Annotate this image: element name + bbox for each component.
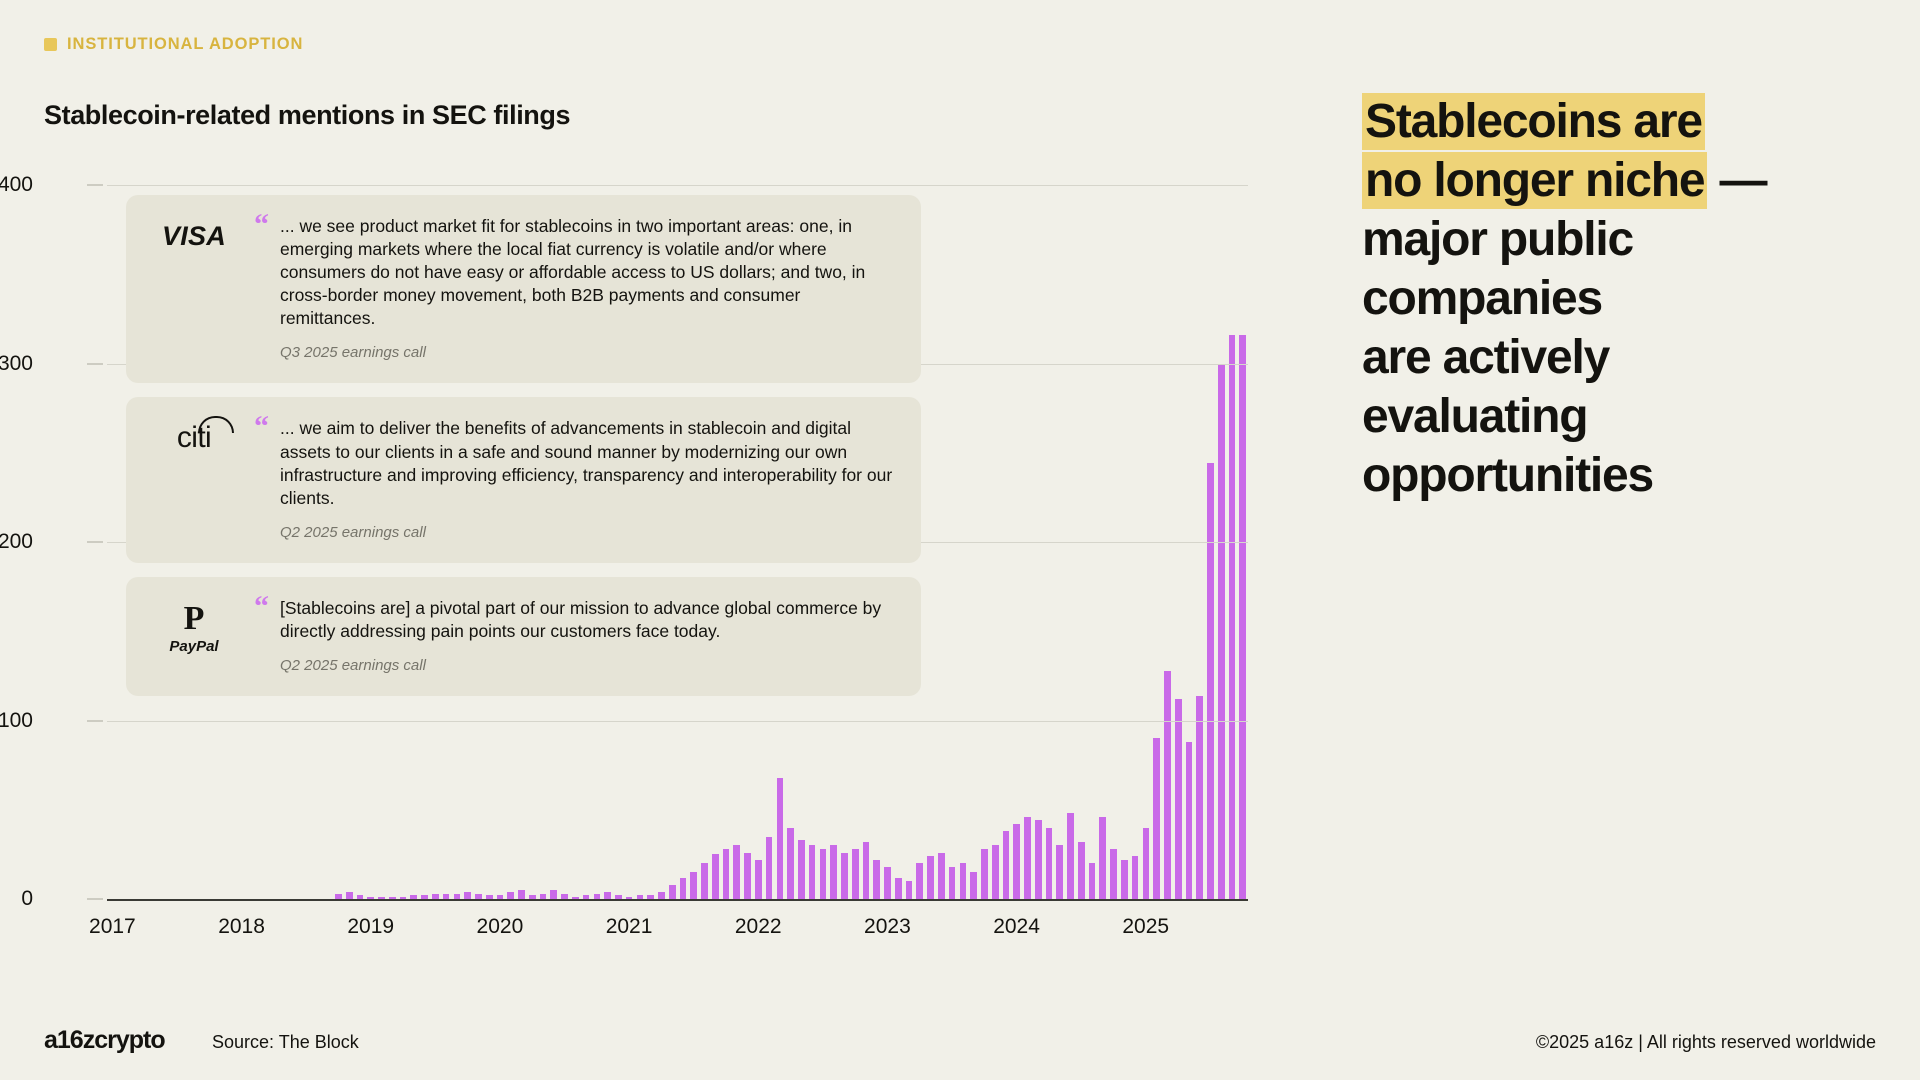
bar: [1164, 671, 1171, 899]
bar: [949, 867, 956, 899]
y-axis-tick-0: 0: [21, 887, 33, 911]
headline-line-6: evaluating: [1362, 387, 1882, 446]
bar: [658, 892, 665, 899]
quote-text: “... we aim to deliver the benefits of a…: [254, 417, 895, 509]
bar: [669, 885, 676, 899]
bar: [927, 856, 934, 899]
quote-body: “[Stablecoins are] a pivotal part of our…: [254, 597, 895, 674]
bar: [690, 872, 697, 899]
quote-text: “... we see product market fit for stabl…: [254, 215, 895, 330]
bar: [1239, 335, 1246, 899]
bar: [798, 840, 805, 899]
bar: [1229, 335, 1236, 899]
bar: [841, 853, 848, 899]
eyebrow-swatch-icon: [44, 38, 57, 51]
bar: [755, 860, 762, 899]
bar: [1196, 696, 1203, 899]
x-axis-tick-2021: 2021: [606, 915, 653, 939]
bar: [787, 828, 794, 899]
quote-source: Q3 2025 earnings call: [254, 344, 895, 361]
x-axis-tick-2018: 2018: [218, 915, 265, 939]
headline-line-3: major public: [1362, 210, 1882, 269]
bar: [852, 849, 859, 899]
quote-text-value: ... we see product market fit for stable…: [280, 216, 865, 328]
citi-arc-icon: [198, 416, 234, 433]
bar: [895, 878, 902, 899]
quote-card-paypal: P PayPal “[Stablecoins are] a pivotal pa…: [126, 577, 921, 696]
quote-card-list: VISA “... we see product market fit for …: [126, 195, 921, 710]
eyebrow-label: INSTITUTIONAL ADOPTION: [67, 35, 303, 54]
quote-text: “[Stablecoins are] a pivotal part of our…: [254, 597, 895, 643]
headline-highlight-2: no longer niche: [1362, 152, 1707, 209]
eyebrow: INSTITUTIONAL ADOPTION: [44, 35, 303, 54]
y-axis-dash-100: [87, 720, 103, 721]
bar: [1013, 824, 1020, 899]
chart-title: Stablecoin-related mentions in SEC filin…: [44, 100, 570, 131]
paypal-mark-icon: P: [184, 603, 205, 635]
x-axis-tick-2017: 2017: [89, 915, 136, 939]
y-axis-dash-0: [87, 899, 103, 900]
headline-highlight-1: Stablecoins are: [1362, 93, 1705, 150]
bar: [873, 860, 880, 899]
gridline-100: [107, 721, 1248, 722]
gridline-0: [107, 899, 1248, 901]
bar: [938, 853, 945, 899]
paypal-logo-icon: P PayPal: [148, 597, 240, 655]
bar: [1186, 742, 1193, 899]
visa-wordmark: VISA: [162, 221, 226, 252]
bar: [970, 872, 977, 899]
quote-body: “... we see product market fit for stabl…: [254, 215, 895, 361]
headline-line-5: are actively: [1362, 328, 1882, 387]
quote-card-visa: VISA “... we see product market fit for …: [126, 195, 921, 383]
quote-text-value: [Stablecoins are] a pivotal part of our …: [280, 598, 881, 641]
visa-logo-icon: VISA: [148, 215, 240, 252]
footer: a16zcrypto Source: The Block ©2025 a16z …: [0, 1020, 1920, 1070]
bar: [1078, 842, 1085, 899]
y-axis-tick-200: 200: [0, 530, 33, 554]
y-axis-dash-200: [87, 542, 103, 543]
bar: [777, 778, 784, 899]
bar: [830, 845, 837, 899]
headline-line-4: companies: [1362, 269, 1882, 328]
x-axis-tick-2022: 2022: [735, 915, 782, 939]
y-axis-tick-300: 300: [0, 352, 33, 376]
bar: [992, 845, 999, 899]
bar: [960, 863, 967, 899]
bar: [1207, 463, 1214, 899]
quote-mark-icon: “: [254, 592, 269, 622]
bar: [1153, 738, 1160, 899]
paypal-wordmark-text: PayPal: [169, 638, 218, 655]
bar: [346, 892, 353, 899]
bar: [1099, 817, 1106, 899]
bar: [1056, 845, 1063, 899]
x-axis-tick-2025: 2025: [1122, 915, 1169, 939]
a16zcrypto-logo: a16zcrypto: [44, 1026, 165, 1055]
gridline-400: [107, 185, 1248, 186]
quote-mark-icon: “: [254, 412, 269, 442]
bar: [1175, 699, 1182, 899]
bar: [1003, 831, 1010, 899]
bar: [733, 845, 740, 899]
bar: [701, 863, 708, 899]
bar: [809, 845, 816, 899]
quote-source: Q2 2025 earnings call: [254, 524, 895, 541]
bar: [916, 863, 923, 899]
bar: [884, 867, 891, 899]
paypal-wordmark: P PayPal: [169, 603, 218, 655]
y-axis-dash-400: [87, 185, 103, 186]
headline-dash: —: [1707, 154, 1766, 207]
bar: [550, 890, 557, 899]
bar: [766, 837, 773, 899]
bar: [464, 892, 471, 899]
bar: [723, 849, 730, 899]
headline-line-1: Stablecoins are: [1362, 92, 1882, 151]
bar: [507, 892, 514, 899]
bar: [1089, 863, 1096, 899]
headline-line-2: no longer niche —: [1362, 151, 1882, 210]
bar: [518, 890, 525, 899]
bar: [680, 878, 687, 899]
bar: [1067, 813, 1074, 899]
bar: [906, 881, 913, 899]
quote-text-value: ... we aim to deliver the benefits of ad…: [280, 418, 892, 507]
headline-line-7: opportunities: [1362, 446, 1882, 505]
citi-wordmark: citi: [177, 423, 211, 453]
quote-source: Q2 2025 earnings call: [254, 657, 895, 674]
quote-card-citi: citi “... we aim to deliver the benefits…: [126, 397, 921, 562]
bar: [1046, 828, 1053, 899]
bar: [1218, 364, 1225, 900]
bar: [1024, 817, 1031, 899]
bar: [1143, 828, 1150, 899]
quote-body: “... we aim to deliver the benefits of a…: [254, 417, 895, 540]
headline: Stablecoins are no longer niche — major …: [1362, 92, 1882, 505]
bar: [981, 849, 988, 899]
bar: [744, 853, 751, 899]
bar: [1110, 849, 1117, 899]
bar: [1121, 860, 1128, 899]
source-label: Source: The Block: [212, 1032, 359, 1053]
x-axis: 201720182019202020212022202320242025: [107, 915, 1248, 955]
x-axis-tick-2023: 2023: [864, 915, 911, 939]
bar: [604, 892, 611, 899]
y-axis-tick-100: 100: [0, 709, 33, 733]
quote-mark-icon: “: [254, 210, 269, 240]
bar: [1132, 856, 1139, 899]
bar: [863, 842, 870, 899]
x-axis-tick-2020: 2020: [477, 915, 524, 939]
x-axis-tick-2019: 2019: [347, 915, 394, 939]
y-axis-dash-300: [87, 363, 103, 364]
x-axis-tick-2024: 2024: [993, 915, 1040, 939]
bar: [820, 849, 827, 899]
y-axis-tick-400: 400: [0, 173, 33, 197]
bar: [712, 854, 719, 899]
bar: [1035, 820, 1042, 899]
citi-logo-icon: citi: [148, 417, 240, 453]
copyright-label: ©2025 a16z | All rights reserved worldwi…: [1536, 1032, 1876, 1053]
